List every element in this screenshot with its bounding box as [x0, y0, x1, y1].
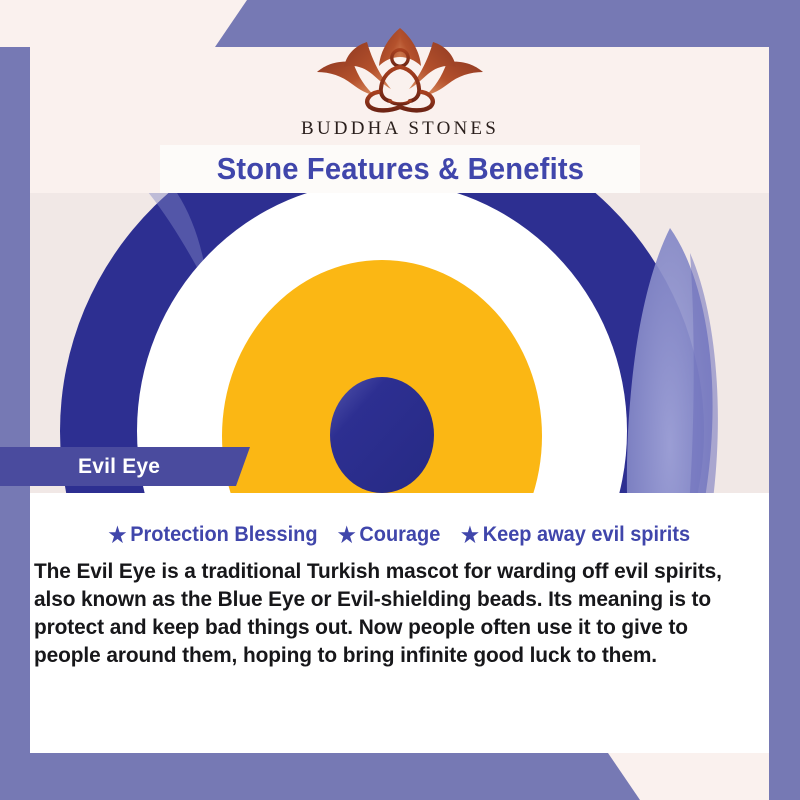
benefit-label: Protection Blessing	[130, 523, 317, 547]
stone-description: The Evil Eye is a traditional Turkish ma…	[34, 557, 752, 669]
benefit-label: Courage	[359, 523, 440, 547]
lotus-meditation-icon	[312, 22, 488, 114]
list-item: ★ Keep away evil spirits	[461, 523, 690, 547]
frame-bar-left	[0, 47, 30, 800]
stone-label-text: Evil Eye	[78, 455, 160, 479]
page-title-band: Stone Features & Benefits	[160, 145, 640, 193]
star-icon: ★	[338, 525, 356, 546]
star-icon: ★	[461, 525, 479, 546]
list-item: ★ Protection Blessing	[108, 523, 317, 547]
star-icon: ★	[108, 525, 126, 546]
stone-label-ribbon: Evil Eye	[0, 447, 250, 486]
benefit-label: Keep away evil spirits	[483, 523, 690, 547]
frame-bar-bottom	[0, 753, 640, 800]
infographic-poster: BUDDHA STONES Stone Features & Benefits …	[0, 0, 800, 800]
brand-name: BUDDHA STONES	[301, 118, 499, 140]
benefits-list: ★ Protection Blessing ★ Courage ★ Keep a…	[30, 519, 769, 551]
page-title: Stone Features & Benefits	[216, 151, 583, 187]
bead-pupil	[330, 377, 434, 493]
list-item: ★ Courage	[338, 523, 441, 547]
brand-logo: BUDDHA STONES	[0, 22, 800, 140]
